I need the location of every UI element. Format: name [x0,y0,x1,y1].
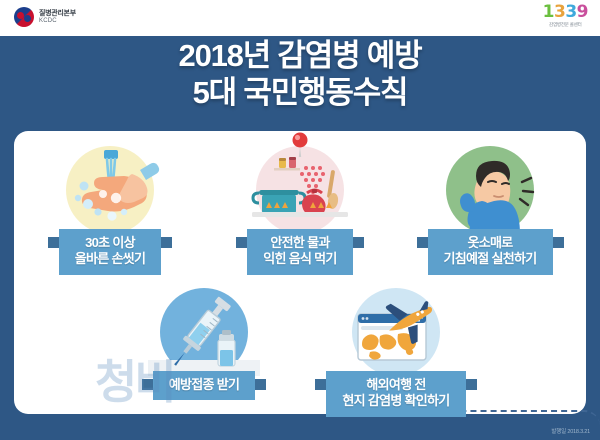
hotline-digits: 1339 [543,4,588,21]
card-vaccination: 예방접종 받기 [128,288,280,400]
card-label: 옷소매로 기침예절 실천하기 [428,229,553,275]
header-bar: 질병관리본부 KCDC 1339 감염병전문 콜센터 [0,0,600,36]
card-label-line-1: 예방접종 받기 [169,377,239,392]
hotline-subtitle: 감염병전문 콜센터 [543,22,588,28]
card-label-line-1: 30초 이상 [85,235,135,250]
card-safe-food-water: 안전한 물과 익힌 음식 먹기 [224,146,376,275]
card-label-ribbon: 해외여행 전 현지 감염병 확인하기 [326,371,465,417]
card-label-line-2: 기침예절 실천하기 [444,251,537,266]
publication-note: 발행일 2018.3.21 [551,427,590,435]
card-label-line-2: 올바른 손씻기 [75,251,145,266]
card-label-line-2: 익힌 음식 먹기 [263,251,336,266]
infographic-poster: 질병관리본부 KCDC 1339 감염병전문 콜센터 2018년 감염병 예방 … [0,0,600,440]
handwashing-icon [54,146,166,234]
kcdc-logo-text: 질병관리본부 KCDC [39,10,76,25]
card-label: 해외여행 전 현지 감염병 확인하기 [326,371,465,417]
syringe-icon [148,288,260,376]
poster-title: 2018년 감염병 예방 5대 국민행동수칙 [0,38,600,111]
card-label-line-1: 안전한 물과 [270,235,329,250]
taegeuk-icon [14,7,34,27]
hotline-digit-2: 3 [554,2,565,22]
card-handwashing: 30초 이상 올바른 손씻기 [34,146,186,275]
agency-name-ko: 질병관리본부 [39,10,76,18]
agency-name-en: KCDC [39,18,76,25]
hotline-digit-4: 9 [577,2,588,22]
airplane-map-icon [340,288,452,376]
pushpin-icon [289,132,311,163]
card-label: 30초 이상 올바른 손씻기 [59,229,161,275]
card-travel-check: 해외여행 전 현지 감염병 확인하기 [320,288,472,417]
title-line-2: 5대 국민행동수칙 [0,75,600,112]
card-label-line-1: 옷소매로 [467,235,512,250]
hotline-digit-3: 3 [565,2,576,22]
card-label-ribbon: 안전한 물과 익힌 음식 먹기 [247,229,352,275]
card-label-line-2: 현지 감염병 확인하기 [342,393,449,408]
card-label-line-1: 해외여행 전 [366,377,425,392]
card-cough-etiquette: 옷소매로 기침예절 실천하기 [414,146,566,275]
kcdc-logo: 질병관리본부 KCDC [14,7,76,27]
hotline-1339-logo: 1339 감염병전문 콜센터 [543,4,588,28]
card-label-ribbon: 옷소매로 기침예절 실천하기 [428,229,553,275]
title-line-1: 2018년 감염병 예방 [0,38,600,75]
card-label-ribbon: 30초 이상 올바른 손씻기 [59,229,161,275]
card-label: 안전한 물과 익힌 음식 먹기 [247,229,352,275]
hotline-digit-1: 1 [543,2,554,22]
cough-sleeve-icon [434,146,546,234]
card-label-ribbon: 예방접종 받기 [153,371,255,400]
card-label: 예방접종 받기 [153,371,255,400]
